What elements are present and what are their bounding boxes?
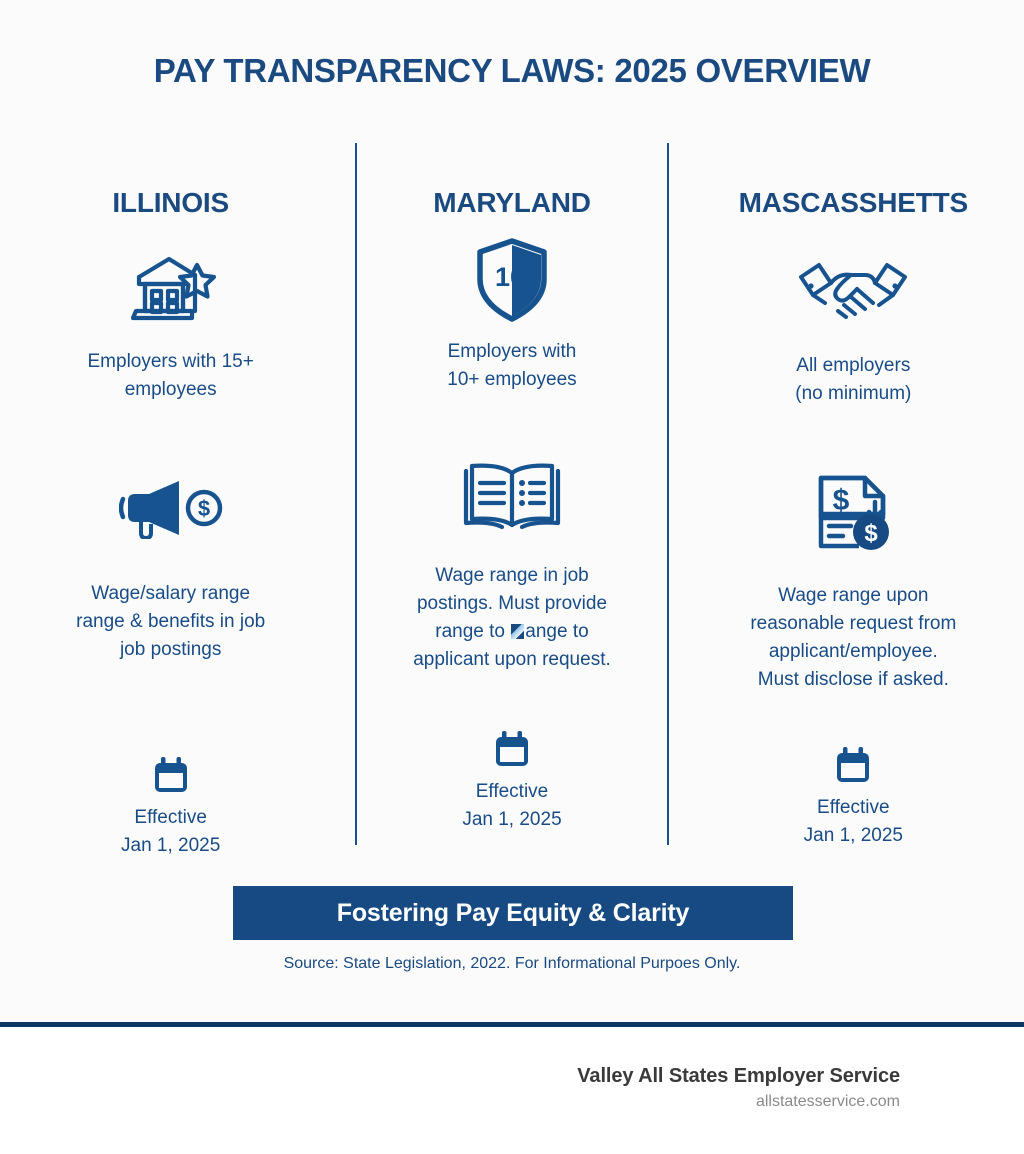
requirement-line: job postings [76, 636, 265, 664]
calendar-icon [150, 746, 192, 804]
coverage-line: employees [88, 376, 254, 404]
footer: Valley All States Employer Service allst… [0, 1027, 1024, 1154]
footer-content: Valley All States Employer Service allst… [577, 1065, 900, 1111]
main-panel: PAY TRANSPARENCY LAWS: 2025 OVERVIEW ILL… [0, 0, 1024, 1022]
requirement-text-illinois: Wage/salary range range & benefits in jo… [76, 580, 265, 722]
effective-date-illinois: Effective Jan 1, 2025 [121, 804, 220, 860]
shield-10-icon: 10 [474, 234, 550, 326]
requirement-text-maryland: Wage range in job postings. Must provide… [413, 562, 611, 704]
tagline-banner: Fostering Pay Equity & Clarity [233, 886, 793, 940]
coverage-text-mascasshetts: All employers (no minimum) [795, 352, 911, 438]
state-name-illinois: ILLINOIS [112, 180, 229, 226]
tagline-text: Fostering Pay Equity & Clarity [337, 899, 689, 928]
coverage-text-illinois: Employers with 15+ employees [88, 348, 254, 434]
requirement-line: Wage range in job [413, 562, 611, 590]
effective-value: Jan 1, 2025 [804, 822, 903, 850]
requirement-line: reasonable request from [750, 610, 956, 638]
effective-label: Effective [462, 778, 561, 806]
state-name-maryland: MARYLAND [433, 180, 591, 226]
state-columns: ILLINOIS [0, 180, 1024, 860]
coverage-line: All employers [795, 352, 911, 380]
requirement-line-part: ange to [525, 621, 588, 642]
effective-value: Jan 1, 2025 [121, 832, 220, 860]
svg-text:$: $ [198, 496, 210, 521]
company-website[interactable]: allstatesservice.com [577, 1093, 900, 1111]
requirement-line: applicant upon request. [413, 646, 611, 674]
requirement-line-part: range to [435, 621, 510, 642]
calendar-icon [832, 736, 874, 794]
requirement-line: Wage/salary range [76, 580, 265, 608]
coverage-line: Employers with 15+ [88, 348, 254, 376]
state-column-mascasshetts: MASCASSHETTS [683, 180, 1024, 860]
state-column-illinois: ILLINOIS [0, 180, 341, 860]
infographic-root: PAY TRANSPARENCY LAWS: 2025 OVERVIEW ILL… [0, 0, 1024, 1154]
shield-number: 10 [495, 262, 525, 292]
requirement-line: applicant/employee. [750, 638, 956, 666]
svg-text:$: $ [865, 520, 879, 547]
effective-label: Effective [121, 804, 220, 832]
effective-value: Jan 1, 2025 [462, 806, 561, 834]
handshake-icon [795, 244, 911, 336]
requirement-text-mascasshetts: Wage range upon reasonable request from … [750, 582, 956, 724]
effective-date-maryland: Effective Jan 1, 2025 [462, 778, 561, 834]
government-building-star-icon [125, 242, 217, 334]
effective-label: Effective [804, 794, 903, 822]
glyph-artifact-icon [511, 624, 524, 639]
requirement-line: Must disclose if asked. [750, 666, 956, 694]
calendar-icon [491, 720, 533, 778]
coverage-line: Employers with [447, 338, 576, 366]
svg-text:$: $ [833, 484, 850, 517]
source-note: Source: State Legislation, 2022. For Inf… [0, 955, 1024, 973]
megaphone-dollar-icon: $ [119, 462, 223, 554]
requirement-line: Wage range upon [750, 582, 956, 610]
state-column-maryland: MARYLAND 10 Employers with 10+ employees [341, 180, 682, 860]
coverage-line: 10+ employees [447, 366, 576, 394]
page-title: PAY TRANSPARENCY LAWS: 2025 OVERVIEW [0, 52, 1024, 90]
company-name: Valley All States Employer Service [577, 1065, 900, 1088]
coverage-text-maryland: Employers with 10+ employees [447, 338, 576, 424]
requirement-line: postings. Must provide [413, 590, 611, 618]
coverage-line: (no minimum) [795, 380, 911, 408]
requirement-line-glitched: range to ange to [413, 618, 611, 646]
document-dollar-icon: $ $ [813, 468, 893, 560]
requirement-line: range & benefits in job [76, 608, 265, 636]
state-name-mascasshetts: MASCASSHETTS [739, 180, 968, 226]
effective-date-mascasshetts: Effective Jan 1, 2025 [804, 794, 903, 850]
open-book-icon [462, 450, 562, 542]
